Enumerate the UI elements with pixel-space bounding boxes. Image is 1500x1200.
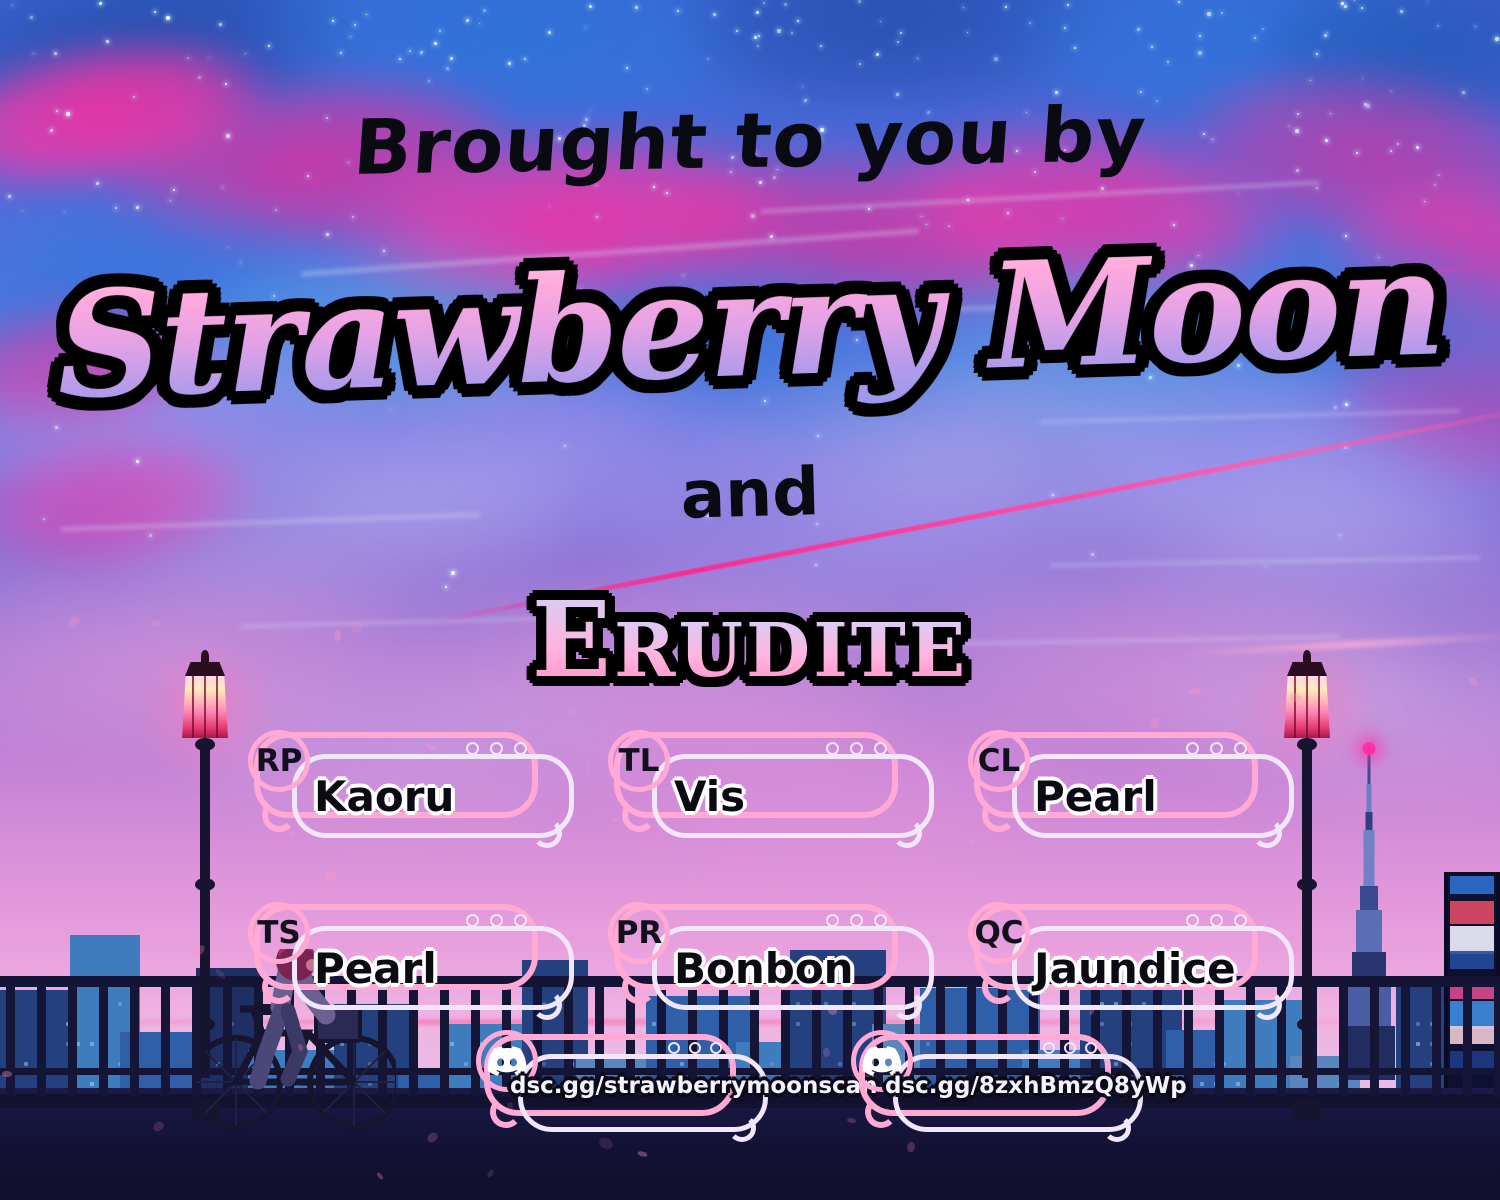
bubble-dots [826, 914, 887, 927]
bubble-tail-pink [982, 798, 1016, 832]
role-badge: CL [968, 730, 1030, 792]
bubble-dots [1043, 1042, 1097, 1054]
bubble-dots [1186, 914, 1247, 927]
bubble-tail-white [1252, 818, 1282, 848]
role-badge: QC [968, 902, 1030, 964]
group-title-strawberry-moon: Strawberry Moon [0, 228, 1500, 421]
role-label: PR [616, 918, 663, 949]
role-label: CL [978, 746, 1021, 777]
bubble-dots [668, 1042, 722, 1054]
credit-name: Pearl [1034, 772, 1157, 821]
discord-link-erudite[interactable]: dsc.gg/8zxhBmzQ8yWp [845, 1028, 1145, 1134]
bubble-tail-white [892, 818, 922, 848]
bubble-tail-pink [262, 798, 296, 832]
credit-name: Pearl [314, 944, 437, 993]
credit-ts[interactable]: TS Pearl [240, 898, 570, 1010]
role-label: RP [256, 746, 303, 777]
credit-name: Kaoru [314, 772, 454, 821]
bubble-tail-white [728, 1114, 756, 1142]
bubble-tail-pink [622, 798, 656, 832]
role-label: TS [257, 918, 300, 949]
role-badge: TL [608, 730, 670, 792]
erudite-initial: E [532, 578, 614, 701]
credit-rp[interactable]: RP Kaoru [240, 726, 570, 838]
bubble-tail-white [532, 818, 562, 848]
bubble-tail-pink [622, 970, 656, 1004]
bubble-dots [1186, 742, 1247, 755]
erudite-rest: RUDITE [614, 608, 968, 694]
discord-link-strawberrymoon[interactable]: dsc.gg/strawberrymoonscan [470, 1028, 770, 1134]
role-badge: PR [608, 902, 670, 964]
credit-name: Bonbon [674, 944, 854, 993]
bubble-dots [466, 742, 527, 755]
bubble-tail-white [892, 990, 922, 1020]
credit-qc[interactable]: QC Jaundice [960, 898, 1290, 1010]
group-title-erudite: ERUDITE [0, 588, 1500, 692]
bubble-dots [826, 742, 887, 755]
credit-name: Jaundice [1034, 944, 1236, 993]
role-label: QC [974, 918, 1023, 949]
credit-tl[interactable]: TL Vis [600, 726, 930, 838]
bubble-dots [466, 914, 527, 927]
bubble-tail-white [1103, 1114, 1131, 1142]
credit-pr[interactable]: PR Bonbon [600, 898, 930, 1010]
discord-url[interactable]: dsc.gg/8zxhBmzQ8yWp [885, 1073, 1187, 1099]
credit-name: Vis [674, 772, 745, 821]
discord-url[interactable]: dsc.gg/strawberrymoonscan [510, 1073, 878, 1099]
bubble-tail-pink [982, 970, 1016, 1004]
role-badge: TS [248, 902, 310, 964]
bubble-tail-white [532, 990, 562, 1020]
bubble-tail-white [1252, 990, 1282, 1020]
role-badge: RP [248, 730, 310, 792]
credits-page: Brought to you by Strawberry Moon and ER… [0, 0, 1500, 1200]
bubble-tail-pink [262, 970, 296, 1004]
role-label: TL [619, 746, 660, 777]
credit-cl[interactable]: CL Pearl [960, 726, 1290, 838]
